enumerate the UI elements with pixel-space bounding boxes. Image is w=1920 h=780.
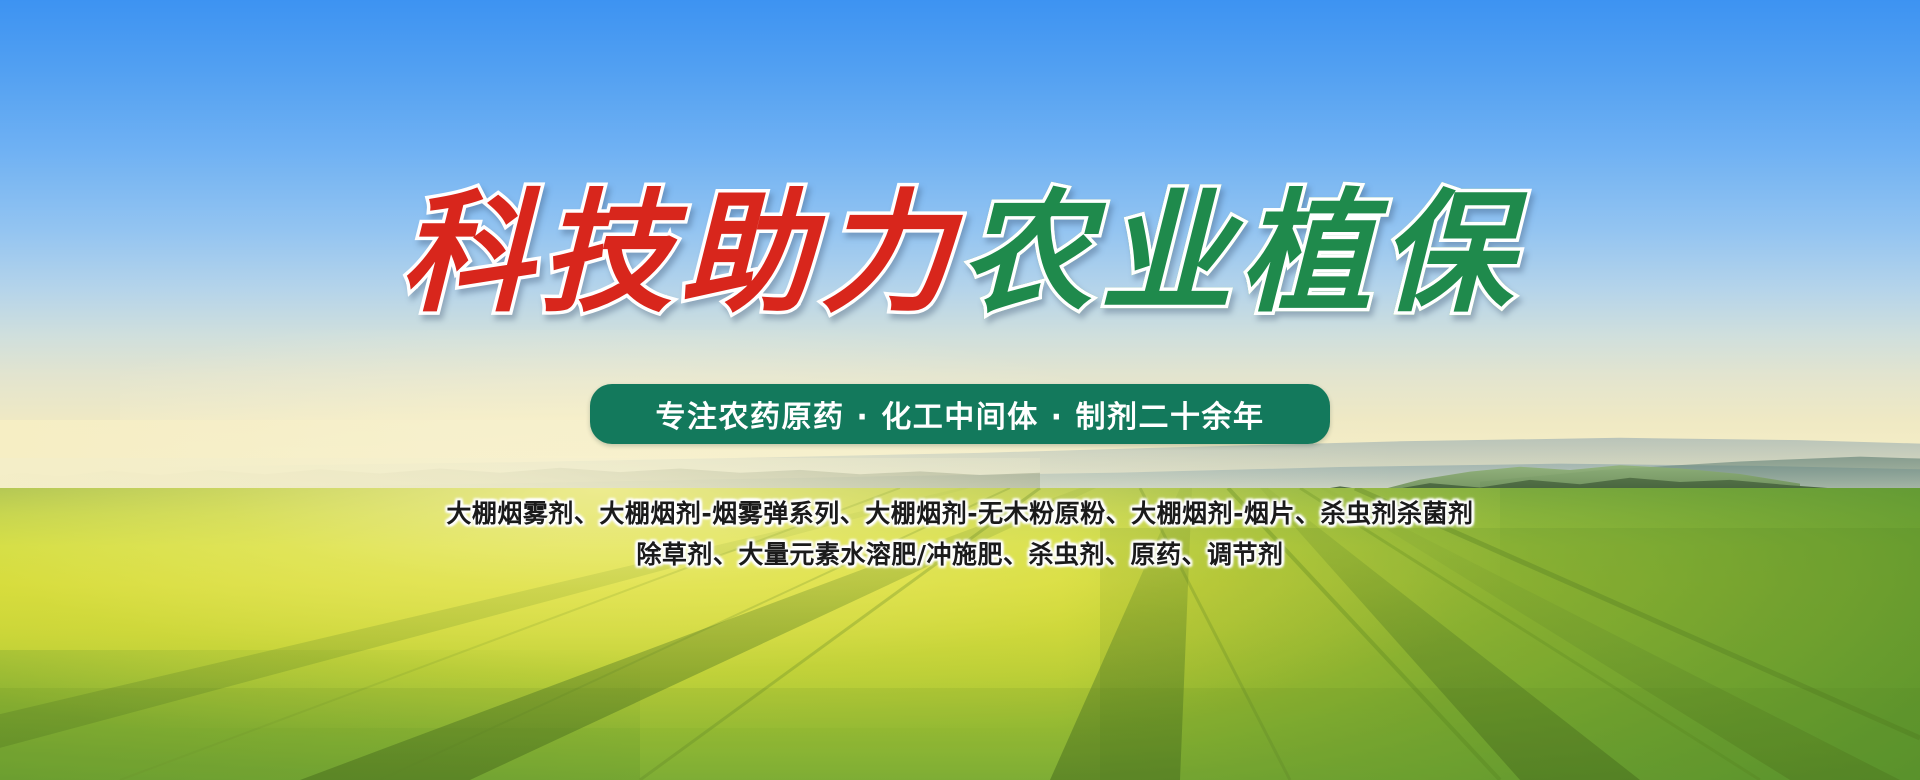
- hero-banner: 科技助力农业植保 专注农药原药 · 化工中间体 · 制剂二十余年 大棚烟雾剂、大…: [0, 0, 1920, 780]
- headline-red-text: 科技助力: [400, 176, 960, 332]
- product-line-2: 除草剂、大量元素水溶肥/冲施肥、杀虫剂、原药、调节剂: [0, 535, 1920, 576]
- subtitle-pill-text: 专注农药原药 · 化工中间体 · 制剂二十余年: [655, 392, 1264, 436]
- subtitle-pill: 专注农药原药 · 化工中间体 · 制剂二十余年: [590, 384, 1330, 444]
- headline-green-text: 农业植保: [960, 176, 1520, 332]
- product-list: 大棚烟雾剂、大棚烟剂-烟雾弹系列、大棚烟剂-无木粉原粉、大棚烟剂-烟片、杀虫剂杀…: [0, 494, 1920, 575]
- product-line-1: 大棚烟雾剂、大棚烟剂-烟雾弹系列、大棚烟剂-无木粉原粉、大棚烟剂-烟片、杀虫剂杀…: [0, 494, 1920, 535]
- banner-headline: 科技助力农业植保: [0, 176, 1920, 332]
